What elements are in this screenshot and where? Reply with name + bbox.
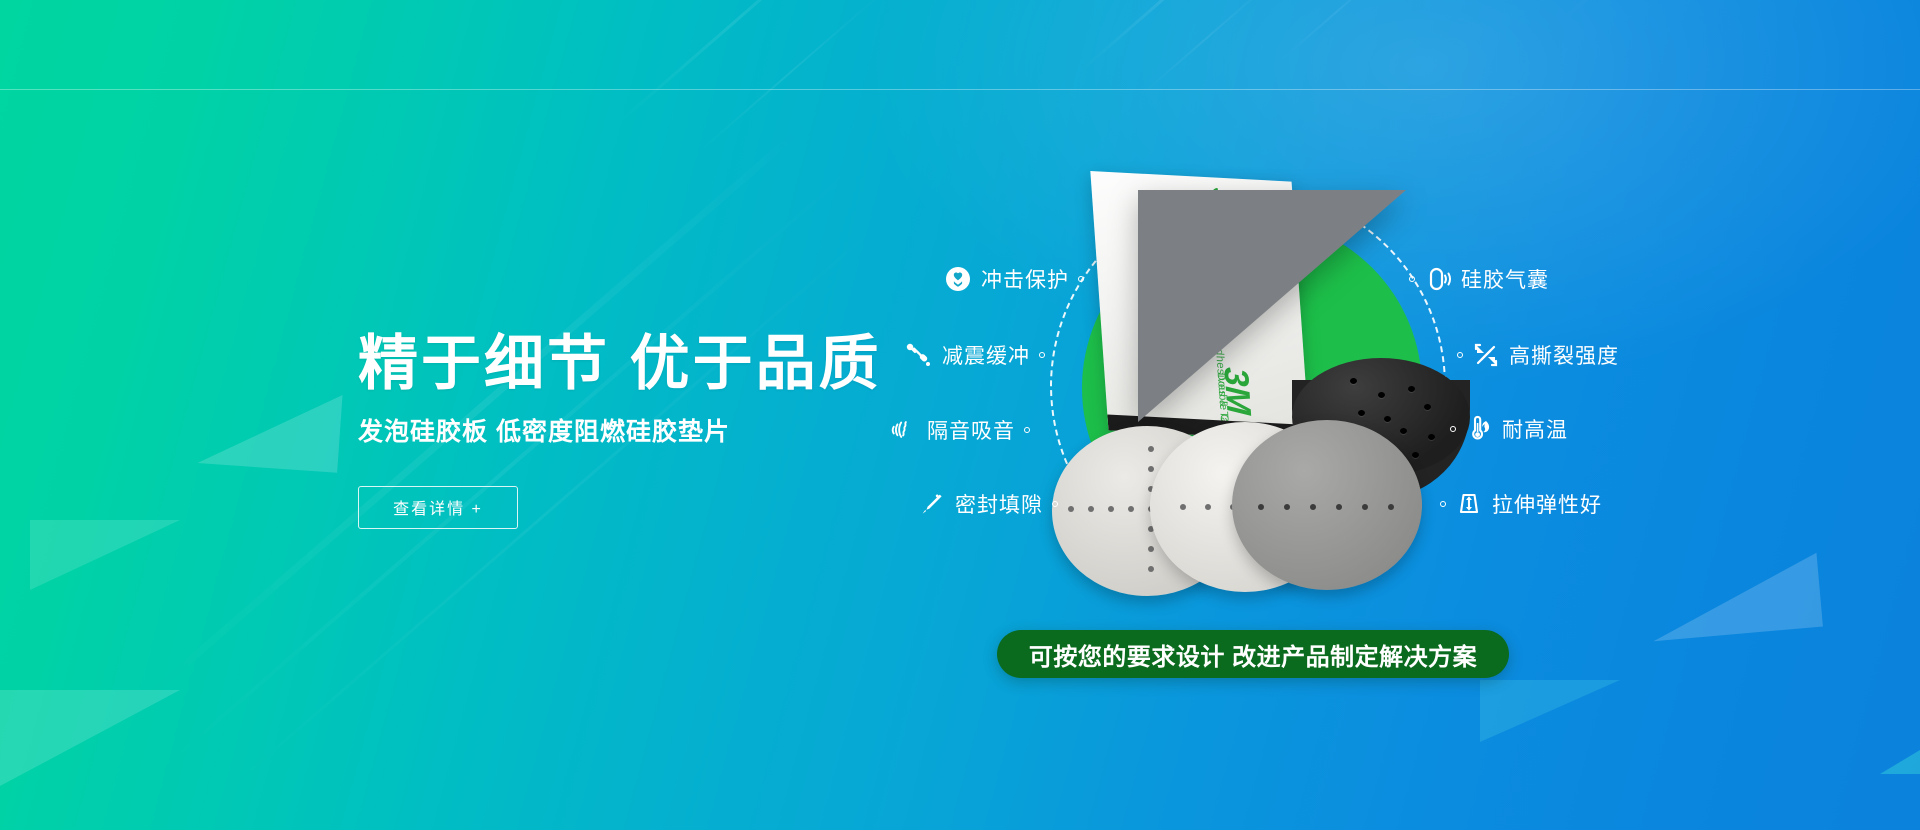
page-title: 精于细节 优于品质 [358,332,978,396]
decor-streak [1079,0,1255,73]
page-subtitle: 发泡硅胶板 低密度阻燃硅胶垫片 [358,412,978,448]
bullet-dot [1024,427,1030,433]
bullet-dot [1440,501,1446,507]
decor-streak [0,0,212,12]
feature-tensile-elasticity[interactable]: 拉伸弹性好 [1440,489,1602,519]
feature-shock-absorption[interactable]: 减震缓冲 [905,340,1045,370]
decor-streak [0,0,243,43]
bullet-dot [1457,352,1463,358]
grey-perforated-disc [1232,420,1422,590]
bullet-dot [1052,501,1058,507]
disc-hole [1384,416,1391,422]
disc-hole [1358,410,1365,416]
feature-tear-strength[interactable]: 高撕裂强度 [1457,340,1619,370]
stretch-arrow-icon [1455,490,1483,518]
feature-heat-resistance[interactable]: 耐高温 [1450,414,1568,444]
decor-streak [699,0,881,152]
disc-hole [1378,392,1385,398]
hero-copy: 精于细节 优于品质 发泡硅胶板 低密度阻燃硅胶垫片 查看详情 + [358,332,978,529]
feature-label: 隔音吸音 [927,415,1015,445]
bullet-dot [1409,276,1415,282]
decor-streak [619,0,847,123]
decor-triangle [1880,720,1920,774]
product-illustration: 3M 3M 3M Double Coated Tape Industrial A… [1020,170,1490,610]
feature-label: 密封填隙 [955,489,1043,519]
hero-banner: 精于细节 优于品质 发泡硅胶板 低密度阻燃硅胶垫片 查看详情 + 3M 3M 3… [0,0,1920,830]
tear-strength-icon [1472,341,1500,369]
silicone-airbag-icon [1424,265,1452,293]
decor-triangle [1647,553,1823,642]
thermometer-flame-icon [1465,415,1493,443]
feature-label: 拉伸弹性好 [1492,489,1602,519]
feature-label: 冲击保护 [981,264,1069,294]
bullet-dot [1039,352,1045,358]
feature-silicone-airbag[interactable]: 硅胶气囊 [1409,264,1549,294]
feature-seal-gap-filling[interactable]: 密封填隙 [918,489,1058,519]
top-divider-line [0,89,1920,90]
bullet-dot [1450,426,1456,432]
feature-label: 耐高温 [1502,414,1568,444]
decor-triangle [1480,680,1620,742]
disc-hole [1408,386,1415,392]
disc-hole [1350,378,1357,384]
decor-triangle [197,385,342,473]
disc-hole [1428,434,1435,440]
feature-label: 硅胶气囊 [1461,264,1549,294]
sound-wave-icon [890,416,918,444]
feature-impact-protection[interactable]: 冲击保护 [944,264,1084,294]
shock-absorber-icon [905,341,933,369]
decor-triangle [0,690,180,786]
disc-hole [1412,452,1419,458]
view-details-button[interactable]: 查看详情 + [358,486,518,529]
decor-triangle [30,520,180,590]
decor-streak [1139,0,1276,97]
caulking-pen-icon [918,490,946,518]
feature-label: 高撕裂强度 [1509,340,1619,370]
decor-streak [1279,0,1394,62]
shield-protection-icon [944,265,972,293]
feature-label: 减震缓冲 [942,340,1030,370]
decor-streak [1559,0,1788,24]
solution-banner: 可按您的要求设计 改进产品制定解决方案 [997,630,1509,678]
feature-sound-insulation[interactable]: 隔音吸音 [890,415,1030,445]
disc-hole [1400,428,1407,434]
disc-hole [1424,404,1431,410]
bullet-dot [1078,276,1084,282]
